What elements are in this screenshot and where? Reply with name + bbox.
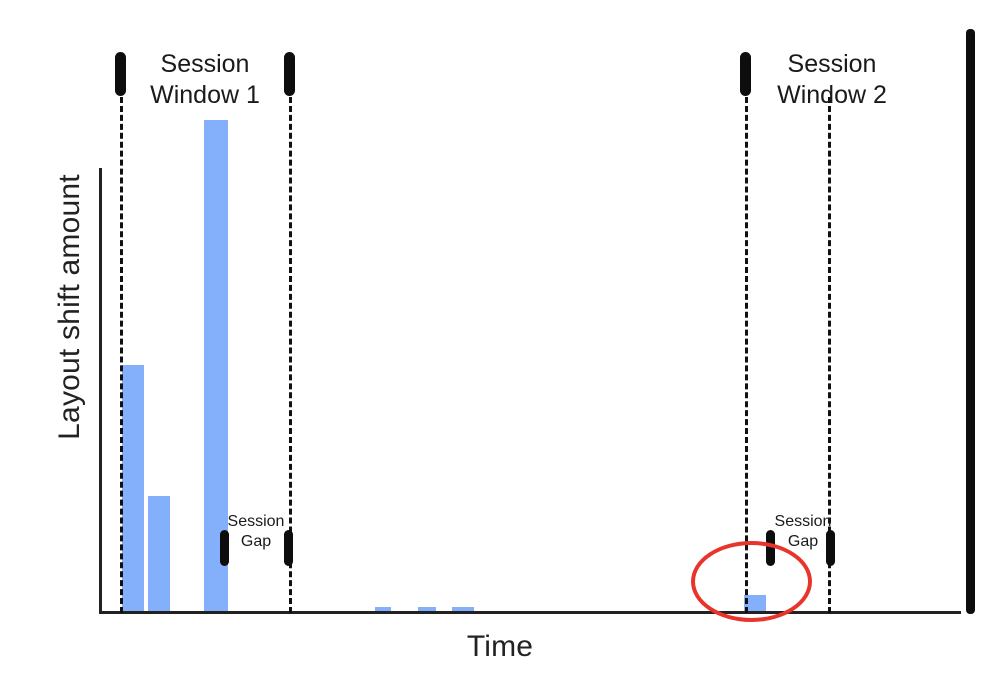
session-gap-1-label: Session Gap xyxy=(218,512,294,552)
y-axis-line xyxy=(99,168,102,614)
y-axis-label: Layout shift amount xyxy=(53,157,87,457)
window-end-marker-1 xyxy=(284,52,295,96)
window-boundary-line-1 xyxy=(120,97,123,613)
bar-shift-6 xyxy=(452,607,474,611)
bar-shift-2 xyxy=(148,496,170,611)
session-window-2-label: Session Window 2 xyxy=(752,49,912,111)
highlight-ellipse xyxy=(691,541,812,622)
session-gap-1-start-marker xyxy=(220,530,229,566)
x-axis-label: Time xyxy=(0,630,1000,664)
session-gap-1-end-marker xyxy=(284,530,293,566)
bar-shift-1 xyxy=(122,365,144,611)
layout-shift-session-window-chart: Layout shift amount Session Window 1 Ses… xyxy=(0,0,1000,687)
window-boundary-line-3 xyxy=(745,97,748,613)
session-window-1-label: Session Window 1 xyxy=(125,49,285,111)
bar-shift-4 xyxy=(375,607,391,611)
bar-shift-5 xyxy=(418,607,436,611)
timeline-end-marker xyxy=(966,29,975,614)
session-gap-2-end-marker xyxy=(826,530,835,566)
window-start-marker-2 xyxy=(740,52,751,96)
x-axis-line xyxy=(99,611,961,614)
